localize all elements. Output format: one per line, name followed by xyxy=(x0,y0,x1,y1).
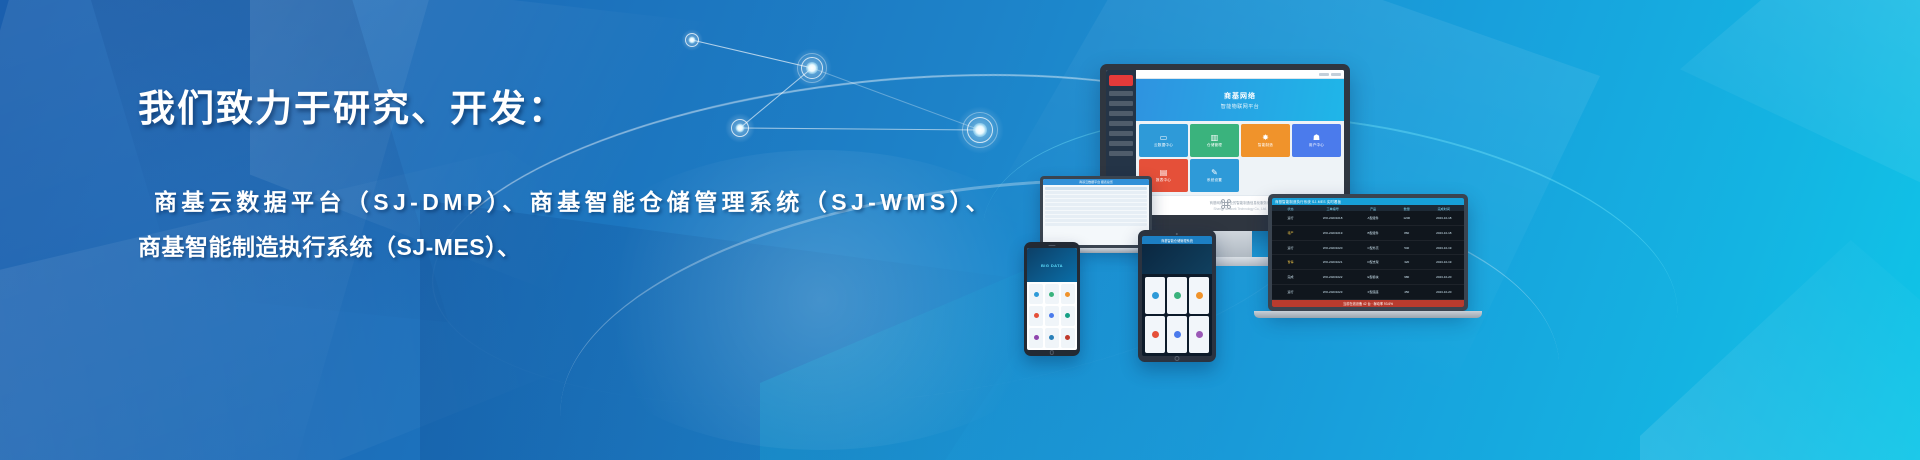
user-icon: ☗ xyxy=(1313,134,1320,142)
brand-logo-icon xyxy=(1109,75,1133,86)
dashboard-tile[interactable]: ☗ 用户中心 xyxy=(1292,124,1341,157)
dashboard-topbar xyxy=(1136,70,1344,79)
monitor-icon: ▭ xyxy=(1160,134,1168,142)
cell-status: 待产 xyxy=(1272,231,1309,235)
cell-qty: 1200 xyxy=(1390,216,1424,220)
cell-time: 2023-10-18 xyxy=(1424,216,1464,220)
phone-tile[interactable] xyxy=(1061,306,1075,326)
phone-speaker-icon xyxy=(1049,245,1056,247)
laptop-screen: 商基智能制造执行系统 SJ-MES 实时看板 状态 工单编号 产品 数量 完成时… xyxy=(1272,198,1464,307)
cell-qty: 320 xyxy=(1390,260,1424,264)
table-row[interactable] xyxy=(1045,223,1147,226)
wms-tile[interactable] xyxy=(1145,316,1165,353)
tile-icon xyxy=(1049,292,1054,297)
dashboard-tile[interactable]: ✸ 智能制造 xyxy=(1241,124,1290,157)
laptop-base xyxy=(1254,311,1482,318)
tile-label: 云数据中心 xyxy=(1154,143,1173,148)
dashboard-hero-title: 商基网络 xyxy=(1224,91,1256,101)
phone-tile[interactable] xyxy=(1029,284,1043,304)
cell-status: 完成 xyxy=(1272,275,1309,279)
search-icon[interactable] xyxy=(1319,73,1329,76)
laptop-left-body: 商基云数据平台 报表总览 xyxy=(1040,176,1152,248)
phone-tile[interactable] xyxy=(1061,284,1075,304)
phone-hero: BIG DATA xyxy=(1027,248,1077,282)
cell-qty: 450 xyxy=(1390,290,1424,294)
dashboard-tile[interactable]: ✎ 系统设置 xyxy=(1190,159,1239,192)
phone-tile[interactable] xyxy=(1045,306,1059,326)
wms-tile[interactable] xyxy=(1145,277,1165,314)
wms-tile[interactable] xyxy=(1167,277,1187,314)
tile-icon xyxy=(1034,313,1039,318)
sidebar-item[interactable] xyxy=(1109,111,1133,116)
user-avatar[interactable] xyxy=(1331,73,1341,76)
tile-icon xyxy=(1049,313,1054,318)
doc-icon: ▤ xyxy=(1160,169,1168,177)
dashboard-hero-sub: 智能物联网平台 xyxy=(1221,103,1260,110)
cell-product: A型组件 xyxy=(1356,216,1390,220)
dashboard-tile[interactable]: ▭ 云数据中心 xyxy=(1139,124,1188,157)
phone-tile[interactable] xyxy=(1029,306,1043,326)
dmp-title: 商基云数据平台 报表总览 xyxy=(1079,180,1113,184)
phone-tile[interactable] xyxy=(1045,328,1059,348)
product-line-1: 商基云数据平台（SJ-DMP）、商基智能仓储管理系统（SJ-WMS）、 xyxy=(138,180,958,225)
phone-tile[interactable] xyxy=(1029,328,1043,348)
phone-hero-title: BIG DATA xyxy=(1041,263,1063,268)
tile-label: 仓储管理 xyxy=(1207,143,1222,148)
table-row[interactable] xyxy=(1045,191,1147,194)
cell-order: WO-20231022 xyxy=(1309,275,1356,279)
column-header: 工单编号 xyxy=(1309,206,1356,211)
cell-time: 2023-10-20 xyxy=(1424,290,1464,294)
column-header: 产品 xyxy=(1356,206,1390,211)
tablet-body: 商基智能仓储管理系统 xyxy=(1138,230,1216,362)
edit-icon: ✎ xyxy=(1211,169,1218,177)
cell-time: 2023-10-19 xyxy=(1424,260,1464,264)
table-row[interactable]: 暂停 WO-20231021 D型支架 320 2023-10-19 xyxy=(1272,255,1464,270)
table-row[interactable]: 运行 WO-20231018 A型组件 1200 2023-10-18 xyxy=(1272,211,1464,226)
page-title: 我们致力于研究、开发： xyxy=(138,86,958,132)
phone-mockup: BIG DATA xyxy=(1024,242,1080,356)
wms-tile[interactable] xyxy=(1189,277,1209,314)
cell-status: 运行 xyxy=(1272,290,1309,294)
cell-product: B型组件 xyxy=(1356,231,1390,235)
table-row[interactable]: 运行 WO-20231020 C型外壳 540 2023-10-19 xyxy=(1272,241,1464,256)
sidebar-item[interactable] xyxy=(1109,121,1133,126)
cell-product: D型支架 xyxy=(1356,260,1390,264)
cell-time: 2023-10-19 xyxy=(1424,246,1464,250)
tile-icon xyxy=(1174,331,1181,338)
wms-tile[interactable] xyxy=(1189,316,1209,353)
table-row[interactable] xyxy=(1045,203,1147,206)
cell-qty: 540 xyxy=(1390,246,1424,250)
cell-time: 2023-10-20 xyxy=(1424,275,1464,279)
mes-titlebar: 商基智能制造执行系统 SJ-MES 实时看板 xyxy=(1272,198,1464,205)
table-row[interactable] xyxy=(1045,195,1147,198)
phone-tile[interactable] xyxy=(1045,284,1059,304)
wms-tile-grid xyxy=(1142,274,1212,356)
laptop-body: 商基智能制造执行系统 SJ-MES 实时看板 状态 工单编号 产品 数量 完成时… xyxy=(1268,194,1468,311)
cell-product: F型底座 xyxy=(1356,290,1390,294)
wms-title: 商基智能仓储管理系统 xyxy=(1161,238,1193,243)
tile-icon xyxy=(1152,292,1159,299)
cell-status: 运行 xyxy=(1272,246,1309,250)
column-header: 完成时间 xyxy=(1424,206,1464,211)
laptop-mockup-left: 商基云数据平台 报表总览 xyxy=(1040,176,1152,248)
sidebar-item[interactable] xyxy=(1109,141,1133,146)
device-mockups: 商基网络 智能物联网平台 ▭ 云数据中心 ▥ 仓储管理 xyxy=(1010,48,1910,388)
tile-icon xyxy=(1034,335,1039,340)
mes-title: 商基智能制造执行系统 SJ-MES 实时看板 xyxy=(1275,199,1341,204)
dmp-table xyxy=(1043,185,1149,245)
table-header-row xyxy=(1045,187,1147,190)
cell-qty: 860 xyxy=(1390,231,1424,235)
tablet-screen: 商基智能仓储管理系统 xyxy=(1142,236,1212,356)
table-row[interactable] xyxy=(1045,207,1147,210)
cell-order: WO-20231023 xyxy=(1309,290,1356,294)
tablet-home-button[interactable] xyxy=(1175,356,1180,361)
chart-icon: ▥ xyxy=(1211,134,1219,142)
apple-logo-icon: ⌘ xyxy=(1220,198,1231,211)
table-row[interactable]: 待产 WO-20231019 B型组件 860 2023-10-18 xyxy=(1272,226,1464,241)
tile-icon xyxy=(1196,292,1203,299)
tile-icon xyxy=(1152,331,1159,338)
tile-icon xyxy=(1196,331,1203,338)
table-row[interactable] xyxy=(1045,215,1147,218)
mes-status-bar: 当前在线设备 42 台 · 稼动率 93.6% xyxy=(1272,300,1464,307)
tile-icon xyxy=(1034,292,1039,297)
dashboard-tile-grid: ▭ 云数据中心 ▥ 仓储管理 ✸ 智能制造 xyxy=(1136,121,1344,195)
column-header: 状态 xyxy=(1272,206,1309,211)
network-node xyxy=(795,51,829,85)
banner-copy: 我们致力于研究、开发： 商基云数据平台（SJ-DMP）、商基智能仓储管理系统（S… xyxy=(138,86,958,270)
tile-label: 报表中心 xyxy=(1156,178,1171,183)
network-node xyxy=(960,110,1000,150)
tile-label: 系统设置 xyxy=(1207,178,1222,183)
sidebar-item[interactable] xyxy=(1109,151,1133,156)
product-list: 商基云数据平台（SJ-DMP）、商基智能仓储管理系统（SJ-WMS）、 商基智能… xyxy=(138,180,958,270)
cell-order: WO-20231018 xyxy=(1309,216,1356,220)
table-row[interactable]: 运行 WO-20231023 F型底座 450 2023-10-20 xyxy=(1272,285,1464,300)
tile-icon xyxy=(1065,335,1070,340)
tile-label: 智能制造 xyxy=(1258,143,1273,148)
phone-tile[interactable] xyxy=(1061,328,1075,348)
hero-banner: 我们致力于研究、开发： 商基云数据平台（SJ-DMP）、商基智能仓储管理系统（S… xyxy=(0,0,1920,460)
sidebar-item[interactable] xyxy=(1109,91,1133,96)
tile-icon xyxy=(1174,292,1181,299)
network-node xyxy=(682,30,702,50)
table-row[interactable]: 完成 WO-20231022 E型模块 980 2023-10-20 xyxy=(1272,270,1464,285)
phone-body: BIG DATA xyxy=(1024,242,1080,356)
phone-tile-grid xyxy=(1027,282,1077,350)
product-line-2: 商基智能制造执行系统（SJ-MES）、 xyxy=(138,225,958,270)
mes-status-text: 当前在线设备 42 台 · 稼动率 93.6% xyxy=(1343,301,1393,306)
table-row[interactable] xyxy=(1045,211,1147,214)
dashboard-hero: 商基网络 智能物联网平台 xyxy=(1136,79,1344,121)
wms-titlebar: 商基智能仓储管理系统 xyxy=(1142,236,1212,244)
wms-tile[interactable] xyxy=(1167,316,1187,353)
wms-hero xyxy=(1142,244,1212,274)
tile-label: 用户中心 xyxy=(1309,143,1324,148)
tile-icon xyxy=(1065,292,1070,297)
laptop-mockup-right: 商基智能制造执行系统 SJ-MES 实时看板 状态 工单编号 产品 数量 完成时… xyxy=(1268,194,1468,311)
tile-icon xyxy=(1049,335,1054,340)
cell-order: WO-20231020 xyxy=(1309,246,1356,250)
cell-product: E型模块 xyxy=(1356,275,1390,279)
cell-status: 暂停 xyxy=(1272,260,1309,264)
sidebar-item[interactable] xyxy=(1109,101,1133,106)
cell-product: C型外壳 xyxy=(1356,246,1390,250)
tile-icon xyxy=(1065,313,1070,318)
cell-order: WO-20231021 xyxy=(1309,260,1356,264)
dashboard-tile[interactable]: ▥ 仓储管理 xyxy=(1190,124,1239,157)
laptop-left-screen: 商基云数据平台 报表总览 xyxy=(1043,179,1149,245)
tablet-mockup: 商基智能仓储管理系统 xyxy=(1138,230,1216,362)
mes-table-body: 运行 WO-20231018 A型组件 1200 2023-10-18 待产 W… xyxy=(1272,211,1464,300)
cell-time: 2023-10-18 xyxy=(1424,231,1464,235)
table-row[interactable] xyxy=(1045,199,1147,202)
table-row[interactable] xyxy=(1045,219,1147,222)
cell-status: 运行 xyxy=(1272,216,1309,220)
sidebar-item[interactable] xyxy=(1109,131,1133,136)
cell-order: WO-20231019 xyxy=(1309,231,1356,235)
gear-icon: ✸ xyxy=(1262,134,1269,142)
phone-screen: BIG DATA xyxy=(1027,248,1077,350)
cell-qty: 980 xyxy=(1390,275,1424,279)
column-header: 数量 xyxy=(1390,206,1424,211)
